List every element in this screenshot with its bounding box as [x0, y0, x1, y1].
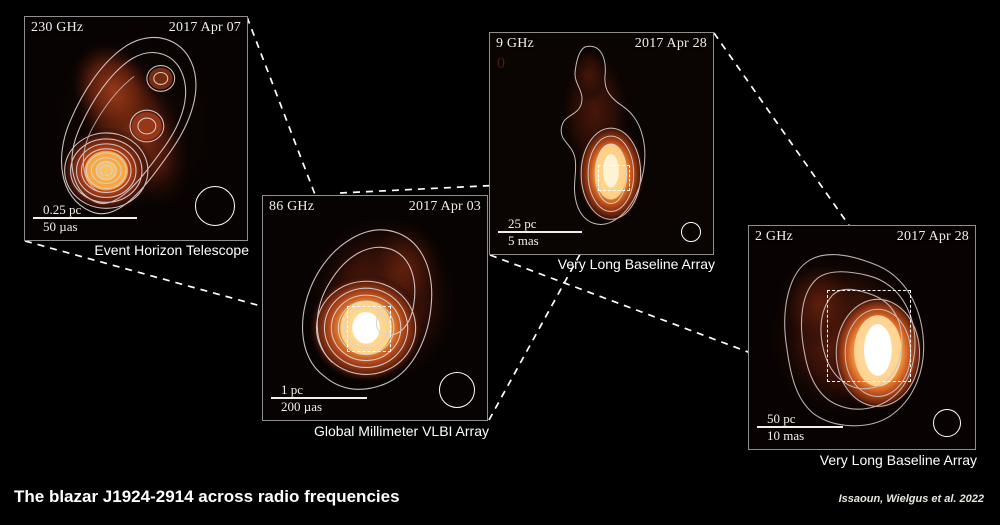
panel-vlba-9ghz[interactable]: 9 GHz 2017 Apr 28 0 25 pc 5 mas — [489, 32, 714, 255]
figure-title: The blazar J1924-2914 across radio frequ… — [14, 487, 400, 507]
scale-angular-value: 5 mas — [498, 234, 582, 248]
panel-frequency-label: 230 GHz — [31, 20, 83, 36]
figure-credit: Issaoun, Wielgus et al. 2022 — [839, 493, 984, 505]
panel-date-label: 2017 Apr 28 — [635, 36, 707, 52]
panel-frequency-label: 9 GHz — [496, 36, 534, 52]
scale-physical-value: 50 pc — [757, 412, 843, 426]
scale-bar: 25 pc 5 mas — [498, 217, 582, 248]
scale-bar: 0.25 pc 50 µas — [33, 203, 137, 234]
panel-gmva-86ghz[interactable]: 86 GHz 2017 Apr 03 1 pc 200 µas — [262, 195, 488, 421]
panel-frequency-label: 2 GHz — [755, 229, 793, 245]
residual-zero-artifact: 0 — [497, 55, 505, 73]
panel-date-label: 2017 Apr 07 — [169, 20, 241, 36]
scale-physical-value: 0.25 pc — [33, 203, 137, 217]
panel-instrument-label-gmva: Global Millimeter VLBI Array — [240, 423, 489, 439]
panel-frequency-label: 86 GHz — [269, 199, 314, 215]
panel-date-label: 2017 Apr 28 — [897, 229, 969, 245]
field-of-view-box-eht — [347, 306, 391, 352]
scale-angular-value: 10 mas — [757, 429, 843, 443]
scale-bar: 50 pc 10 mas — [757, 412, 843, 443]
scale-physical-value: 1 pc — [271, 383, 367, 397]
panel-instrument-label-vlba9: Very Long Baseline Array — [466, 256, 715, 272]
scale-bar: 1 pc 200 µas — [271, 383, 367, 414]
figure-root: 230 GHz 2017 Apr 07 0.25 pc 50 µas Event… — [0, 0, 1000, 525]
scale-angular-value: 200 µas — [271, 400, 367, 414]
beam-ellipse — [439, 372, 475, 408]
beam-ellipse — [933, 409, 961, 437]
scale-physical-value: 25 pc — [498, 217, 582, 231]
field-of-view-box-vlba9 — [827, 290, 911, 382]
scale-angular-value: 50 µas — [33, 220, 137, 234]
field-of-view-box-gmva — [598, 165, 630, 191]
beam-ellipse — [681, 222, 701, 242]
panel-instrument-label-eht: Event Horizon Telescope — [0, 242, 249, 258]
panel-instrument-label-vlba2: Very Long Baseline Array — [728, 452, 977, 468]
panel-date-label: 2017 Apr 03 — [409, 199, 481, 215]
panel-eht-230ghz[interactable]: 230 GHz 2017 Apr 07 0.25 pc 50 µas — [24, 16, 248, 241]
beam-ellipse — [195, 186, 235, 226]
panel-vlba-2ghz[interactable]: 2 GHz 2017 Apr 28 50 pc 10 mas — [748, 225, 976, 450]
